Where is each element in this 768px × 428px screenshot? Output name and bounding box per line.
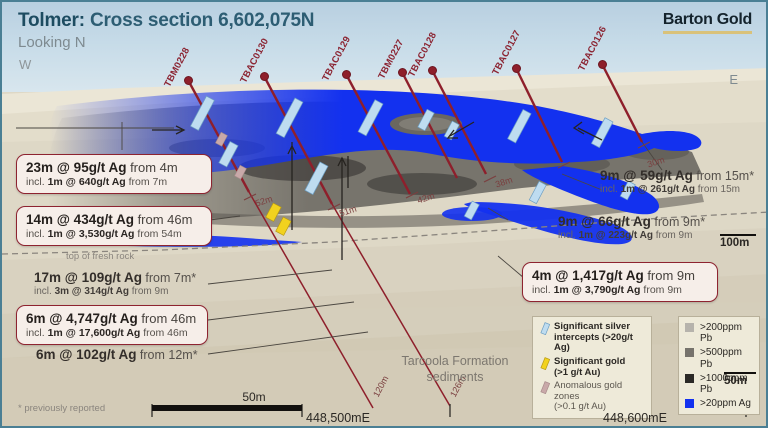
intercept-line-primary: 9m @ 59g/t Ag from 15m* — [600, 168, 754, 183]
swatch-pb-1000-icon — [685, 374, 694, 383]
legend-item-anomalous-gold: Anomalous gold zones (>0.1 g/t Au) — [539, 381, 645, 413]
intercept-text-6m-102: 6m @ 102g/t Ag from 12m* — [36, 347, 198, 362]
intercept-box-4m-1417: 4m @ 1,417g/t Ag from 9m incl. 1m @ 3,79… — [522, 262, 718, 302]
intercept-line-included: incl. 1m @ 3,530g/t Ag from 54m — [26, 228, 202, 240]
legend-label: Significant gold (>1 g/t Au) — [554, 357, 625, 378]
drillhole-collar-tbac0130[interactable] — [260, 72, 269, 81]
barton-gold-logo: Barton Gold — [663, 11, 752, 34]
intercept-line-primary: 14m @ 434g/t Ag from 46m — [26, 212, 202, 227]
intercept-line-included: incl. 1m @ 223g/t Ag from 9m — [558, 230, 705, 241]
intercept-box-23m: 23m @ 95g/t Ag from 4m incl. 1m @ 640g/t… — [16, 154, 212, 194]
vertical-scale-line-100m — [720, 234, 756, 236]
vertical-scale-label-100m: 100m — [720, 237, 749, 249]
swatch-pb-200-icon — [685, 323, 694, 332]
gold-intercept-icon — [539, 357, 551, 370]
footnote-previously-reported: * previously reported — [18, 403, 105, 414]
title-bold: Tolmer: — [18, 10, 85, 31]
legend-symbols: Significant silver intercepts (>20g/t Ag… — [532, 316, 652, 419]
legend-swatches: >200ppm Pb >500ppm Pb >1000ppm Pb >20ppm… — [678, 316, 760, 415]
legend-label: Significant silver intercepts (>20g/t Ag… — [554, 322, 645, 354]
intercept-box-6m-4747: 6m @ 4,747g/t Ag from 46m incl. 1m @ 17,… — [16, 305, 208, 345]
logo-underline-bar — [663, 31, 752, 34]
scale-bar — [152, 405, 302, 411]
logo-text: Barton Gold — [663, 11, 752, 29]
intercept-line-included: incl. 1m @ 640g/t Ag from 7m — [26, 176, 202, 188]
anomalous-gold-icon — [539, 381, 551, 394]
formation-label-line1: Tarcoola Formation — [380, 354, 530, 370]
drillhole-collar-tbac0126[interactable] — [598, 60, 607, 69]
swatch-ag-20-icon — [685, 399, 694, 408]
legend-item-ag20: >20ppm Ag — [685, 398, 753, 409]
legend-label-line1: Anomalous gold zones — [554, 381, 645, 402]
scale-bar-label: 50m — [213, 390, 295, 404]
title-rest: Cross section 6,602,075N — [85, 10, 314, 31]
formation-label-line2: sediments — [380, 370, 530, 386]
intercept-line-included: incl. 3m @ 314g/t Ag from 9m — [34, 286, 196, 297]
coordinate-label-448600mE: 448,600mE — [603, 411, 667, 425]
page-title: Tolmer: Cross section 6,602,075N — [18, 10, 314, 32]
drillhole-collar-tbac0128[interactable] — [428, 66, 437, 75]
intercept-line-included: incl. 1m @ 261g/t Ag from 15m — [600, 184, 754, 195]
drillhole-collar-tbac0129[interactable] — [342, 70, 351, 79]
legend-item-significant-gold: Significant gold (>1 g/t Au) — [539, 357, 645, 378]
intercept-line-primary: 4m @ 1,417g/t Ag from 9m — [532, 268, 708, 283]
intercept-line-primary: 6m @ 4,747g/t Ag from 46m — [26, 311, 198, 326]
intercept-line-included: incl. 1m @ 17,600g/t Ag from 46m — [26, 327, 198, 339]
legend-label-line1: Significant gold — [554, 357, 625, 368]
compass-east-label: E — [729, 72, 738, 87]
legend-item-significant-silver: Significant silver intercepts (>20g/t Ag… — [539, 322, 645, 354]
intercept-text-17m: 17m @ 109g/t Ag from 7m* incl. 3m @ 314g… — [34, 270, 196, 297]
cross-section-figure: Tolmer: Cross section 6,602,075N Looking… — [0, 0, 768, 428]
legend-label-line2: (>1 g/t Au) — [554, 368, 625, 379]
legend-label: >20ppm Ag — [700, 398, 751, 409]
intercept-text-9m-66: 9m @ 66g/t Ag from 9m* incl. 1m @ 223g/t… — [558, 214, 705, 241]
intercept-text-9m-59: 9m @ 59g/t Ag from 15m* incl. 1m @ 261g/… — [600, 168, 754, 195]
drillhole-collar-tbm0228[interactable] — [184, 76, 193, 85]
legend-label: >500ppm Pb — [700, 347, 753, 369]
intercept-line-primary: 6m @ 102g/t Ag from 12m* — [36, 347, 198, 362]
swatch-pb-500-icon — [685, 348, 694, 357]
intercept-line-included: incl. 1m @ 3,790g/t Ag from 9m — [532, 284, 708, 296]
formation-label: Tarcoola Formation sediments — [380, 354, 530, 385]
fresh-rock-label: top of fresh rock — [66, 251, 134, 262]
intercept-line-primary: 17m @ 109g/t Ag from 7m* — [34, 270, 196, 285]
compass-west-label: W — [19, 57, 31, 72]
legend-item-pb500: >500ppm Pb — [685, 347, 753, 369]
legend-label: Anomalous gold zones (>0.1 g/t Au) — [554, 381, 645, 413]
subtitle: Looking N — [18, 34, 86, 51]
vertical-scale-line-50m — [724, 372, 756, 374]
legend-label: >200ppm Pb — [700, 322, 753, 344]
vertical-scale-label-50m: 50m — [724, 375, 747, 387]
coordinate-label-448500mE: 448,500mE — [306, 411, 370, 425]
intercept-line-primary: 9m @ 66g/t Ag from 9m* — [558, 214, 705, 229]
intercept-line-primary: 23m @ 95g/t Ag from 4m — [26, 160, 202, 175]
legend-item-pb200: >200ppm Pb — [685, 322, 753, 344]
silver-intercept-icon — [539, 322, 551, 335]
legend-label-line2: intercepts (>20g/t Ag) — [554, 333, 645, 354]
intercept-box-14m: 14m @ 434g/t Ag from 46m incl. 1m @ 3,53… — [16, 206, 212, 246]
drillhole-collar-tbac0127[interactable] — [512, 64, 521, 73]
